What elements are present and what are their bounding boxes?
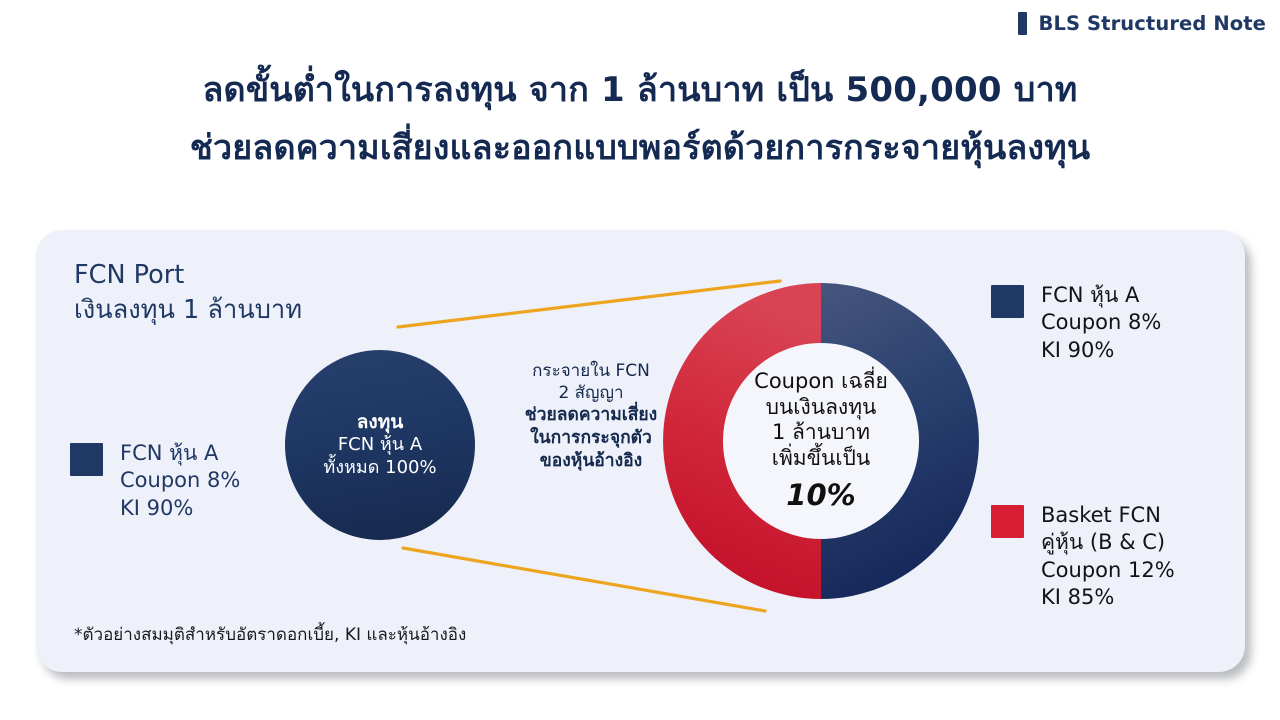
legend-top-right-line-3: KI 90% (1041, 337, 1161, 364)
invest-circle-line-3: ทั้งหมด 100% (323, 457, 436, 479)
legend-left-text: FCN หุ้น A Coupon 8% KI 90% (120, 440, 240, 522)
fcn-port-card: FCN Port เงินลงทุน 1 ล้านบาท ลงทุน FCN ห… (36, 230, 1245, 672)
legend-left-line-3: KI 90% (120, 495, 240, 522)
legend-bottom-right-line-2: คู่หุ้น (B & C) (1041, 529, 1175, 556)
legend-top-right-line-1: FCN หุ้น A (1041, 282, 1161, 309)
legend-bottom-right-line-3: Coupon 12% (1041, 557, 1175, 584)
headline-line-1: ลดขั้นต่ำในการลงทุน จาก 1 ล้านบาท เป็น 5… (0, 66, 1280, 114)
legend-top-right-text: FCN หุ้น A Coupon 8% KI 90% (1041, 282, 1161, 364)
allocation-donut-chart: Coupon เฉลี่ย บนเงินลงทุน 1 ล้านบาท เพิ่… (653, 273, 989, 609)
donut-center-line-2: บนเงินลงทุน (766, 395, 877, 421)
legend-swatch-navy (991, 285, 1024, 318)
legend-bottom-right-basket-fcn: Basket FCN คู่หุ้น (B & C) Coupon 12% KI… (991, 502, 1175, 611)
legend-left-line-2: Coupon 8% (120, 467, 240, 494)
brand-header: BLS Structured Note (1018, 12, 1266, 35)
page-title: ลดขั้นต่ำในการลงทุน จาก 1 ล้านบาท เป็น 5… (0, 66, 1280, 173)
headline-line-2: ช่วยลดความเสี่ยงและออกแบบพอร์ตด้วยการกระ… (0, 124, 1280, 172)
donut-center-line-1: Coupon เฉลี่ย (754, 369, 888, 395)
invest-circle-line-2: FCN หุ้น A (338, 434, 422, 456)
legend-top-right-fcn-a: FCN หุ้น A Coupon 8% KI 90% (991, 282, 1161, 364)
legend-left-fcn-a: FCN หุ้น A Coupon 8% KI 90% (70, 440, 240, 522)
legend-bottom-right-line-1: Basket FCN (1041, 502, 1175, 529)
legend-bottom-right-text: Basket FCN คู่หุ้น (B & C) Coupon 12% KI… (1041, 502, 1175, 611)
legend-bottom-right-line-4: KI 85% (1041, 584, 1175, 611)
donut-center-label: Coupon เฉลี่ย บนเงินลงทุน 1 ล้านบาท เพิ่… (653, 273, 989, 609)
card-title-line-1: FCN Port (74, 258, 302, 293)
brand-label: BLS Structured Note (1038, 12, 1266, 35)
donut-center-line-3: 1 ล้านบาท (772, 420, 870, 446)
legend-swatch-navy (70, 443, 103, 476)
invest-circle-line-1: ลงทุน (357, 411, 403, 435)
brand-accent-bar (1018, 12, 1027, 35)
invest-circle: ลงทุน FCN หุ้น A ทั้งหมด 100% (285, 350, 475, 540)
legend-top-right-line-2: Coupon 8% (1041, 309, 1161, 336)
donut-center-line-4: เพิ่มขึ้นเป็น (772, 446, 870, 472)
card-footnote: *ตัวอย่างสมมุติสำหรับอัตราดอกเบี้ย, KI แ… (74, 621, 466, 648)
legend-swatch-red (991, 505, 1024, 538)
card-title-line-2: เงินลงทุน 1 ล้านบาท (74, 293, 302, 328)
donut-center-percent: 10% (786, 478, 855, 513)
legend-left-line-1: FCN หุ้น A (120, 440, 240, 467)
card-title: FCN Port เงินลงทุน 1 ล้านบาท (74, 258, 302, 327)
